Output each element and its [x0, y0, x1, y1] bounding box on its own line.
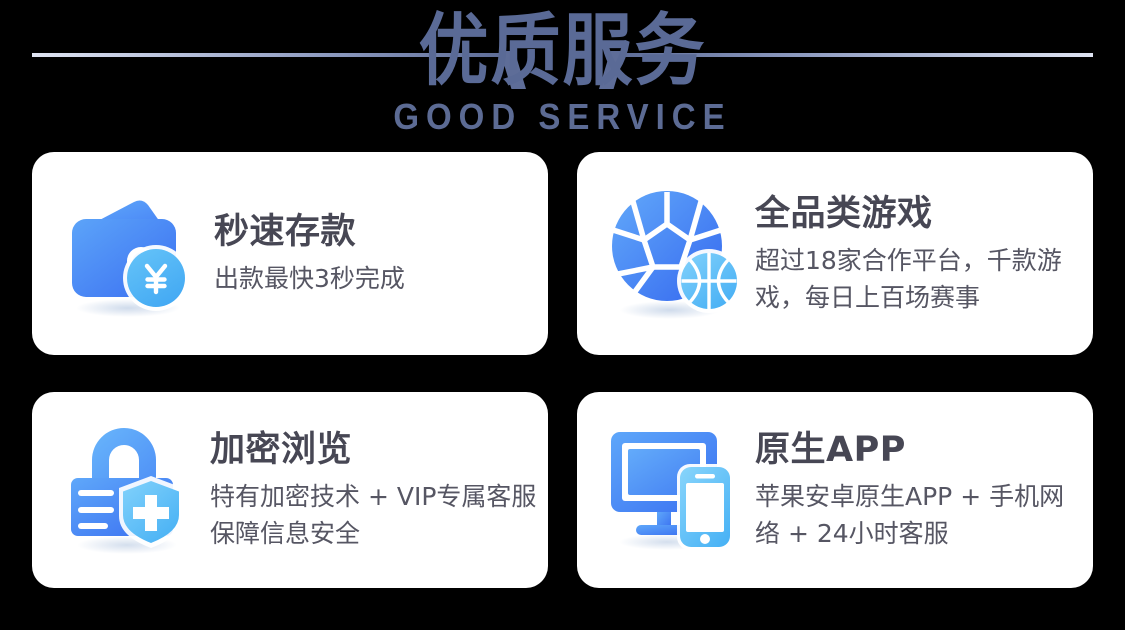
- card-title: 加密浏览: [210, 428, 538, 472]
- card-text-block: 加密浏览 特有加密技术 + VIP专属客服保障信息安全: [202, 428, 548, 552]
- feature-card-games[interactable]: 全品类游戏 超过18家合作平台，千款游戏，每日上百场赛事: [577, 152, 1093, 355]
- card-text-block: 全品类游戏 超过18家合作平台，千款游戏，每日上百场赛事: [747, 192, 1093, 316]
- card-subtitle: 超过18家合作平台，千款游戏，每日上百场赛事: [755, 242, 1083, 316]
- feature-card-deposit[interactable]: 秒速存款 出款最快3秒完成: [32, 152, 548, 355]
- card-subtitle: 特有加密技术 + VIP专属客服保障信息安全: [210, 478, 538, 552]
- wallet-yen-icon: [62, 179, 202, 329]
- lock-shield-icon: [62, 415, 202, 565]
- card-text-block: 原生APP 苹果安卓原生APP + 手机网络 + 24小时客服: [747, 428, 1093, 552]
- card-title: 原生APP: [755, 428, 1083, 472]
- feature-card-grid: 秒速存款 出款最快3秒完成: [32, 152, 1093, 588]
- page-subtitle: GOOD SERVICE: [0, 96, 1125, 138]
- card-text-block: 秒速存款 出款最快3秒完成: [206, 210, 415, 297]
- card-title: 全品类游戏: [755, 192, 1083, 236]
- banner-header: 优质服务 GOOD SERVICE: [0, 0, 1125, 145]
- card-subtitle: 出款最快3秒完成: [214, 260, 405, 297]
- card-subtitle: 苹果安卓原生APP + 手机网络 + 24小时客服: [755, 478, 1083, 552]
- card-title: 秒速存款: [214, 210, 405, 254]
- feature-card-native-app[interactable]: 原生APP 苹果安卓原生APP + 手机网络 + 24小时客服: [577, 392, 1093, 588]
- promo-banner: 优质服务 GOOD SERVICE: [0, 0, 1125, 630]
- soccer-basketball-icon: [607, 179, 747, 329]
- monitor-phone-icon: [607, 415, 747, 565]
- page-title: 优质服务: [0, 7, 1125, 94]
- feature-card-encryption[interactable]: 加密浏览 特有加密技术 + VIP专属客服保障信息安全: [32, 392, 548, 588]
